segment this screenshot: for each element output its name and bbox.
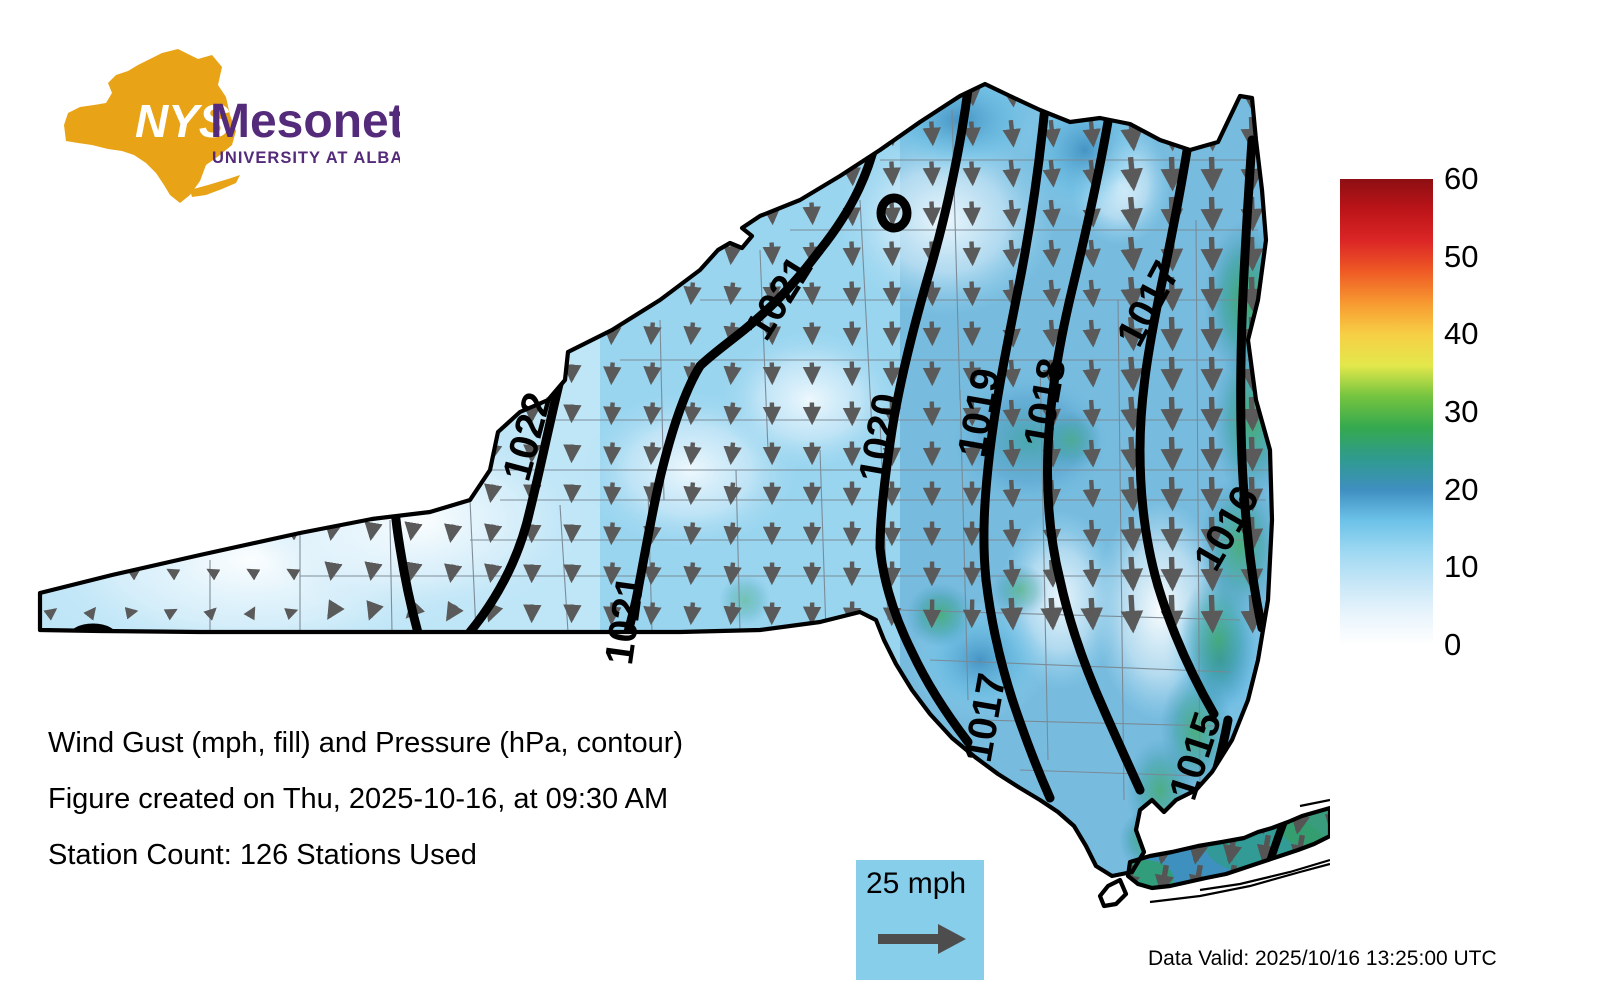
wind-arrow (931, 122, 932, 143)
wind-arrow (132, 248, 133, 256)
wind-arrow (691, 83, 693, 102)
wind-arrow (411, 167, 413, 178)
colorbar (1340, 179, 1433, 645)
wind-arrow (1091, 80, 1094, 104)
wind-arrow (212, 448, 213, 456)
wind-arrow (691, 243, 693, 262)
wind-arrow (852, 322, 853, 343)
wind-arrow (611, 363, 612, 382)
wind-key-label: 25 mph (866, 864, 966, 904)
data-valid-timestamp: Data Valid: 2025/10/16 13:25:00 UTC (1148, 946, 1497, 972)
wind-arrow (209, 530, 216, 534)
wind-arrow (691, 523, 693, 542)
wind-arrow (252, 88, 253, 96)
wind-arrow (771, 83, 772, 102)
figure-caption: Wind Gust (mph, fill) and Pressure (hPa,… (48, 715, 828, 883)
colorbar-tick-50: 50 (1444, 241, 1478, 272)
wind-arrow (292, 208, 293, 216)
wind-arrow (371, 447, 373, 458)
wind-arrow (1011, 360, 1013, 384)
wind-arrow (1212, 437, 1213, 467)
wind-arrow (851, 82, 852, 103)
wind-arrow (132, 408, 133, 416)
wind-arrow (1212, 477, 1213, 507)
wind-arrow (731, 283, 733, 302)
wind-arrow (92, 368, 93, 376)
colorbar-tick-10: 10 (1444, 551, 1478, 582)
wind-arrow (451, 285, 453, 300)
wind-arrow (331, 447, 333, 458)
wind-arrow (132, 88, 133, 96)
wind-arrow (691, 123, 693, 142)
wind-arrow (371, 167, 373, 178)
wind-arrow (52, 208, 53, 216)
wind-arrow (1131, 557, 1133, 587)
wind-arrow (491, 85, 493, 100)
wind-arrow (1172, 437, 1173, 467)
wind-arrow (572, 165, 573, 180)
wind-arrow (491, 285, 493, 300)
wind-arrow (731, 163, 733, 182)
wind-arrow (331, 207, 333, 218)
wind-arrow (1252, 277, 1253, 307)
wind-arrow (1172, 477, 1173, 507)
wind-arrow (292, 248, 293, 256)
wind-arrow (451, 445, 453, 460)
wind-arrow (1212, 237, 1213, 267)
wind-arrow (731, 443, 733, 462)
wind-arrow (1091, 598, 1093, 626)
wind-arrow (252, 208, 253, 216)
wind-arrow (651, 363, 653, 382)
wind-arrow (252, 408, 253, 416)
wind-arrow (212, 328, 213, 336)
wind-arrow (92, 408, 93, 416)
wind-arrow (892, 322, 893, 343)
wind-arrow (169, 530, 176, 534)
wind-arrow (1011, 440, 1013, 464)
wind-arrow (132, 288, 133, 296)
wind-arrow (92, 328, 93, 336)
wind-arrow (411, 407, 413, 418)
wind-arrow (1091, 360, 1093, 384)
wind-arrow (1091, 320, 1093, 344)
wind-arrow (411, 127, 413, 138)
wind-arrow (532, 85, 533, 100)
wind-arrow (972, 202, 973, 223)
wind-arrow (292, 488, 293, 496)
wind-arrow (691, 563, 693, 582)
wind-arrow (92, 88, 93, 96)
wind-arrow (172, 328, 173, 336)
wind-arrow (731, 123, 733, 142)
wind-arrow (611, 163, 612, 182)
colorbar-gradient (1340, 179, 1433, 645)
wind-arrow (52, 168, 53, 176)
wind-arrow (1131, 397, 1133, 427)
wind-arrow (651, 283, 653, 302)
wind-arrow (451, 165, 453, 180)
wind-arrow (1130, 77, 1133, 107)
wind-arrow (572, 245, 573, 260)
wind-arrow (89, 530, 96, 534)
wind-arrow (972, 282, 973, 303)
wind-arrow (212, 288, 213, 296)
caption-line-title: Wind Gust (mph, fill) and Pressure (hPa,… (48, 715, 828, 771)
wind-arrow (411, 207, 413, 218)
wind-arrow (651, 323, 653, 342)
wind-arrow (89, 570, 96, 574)
wind-arrow (1051, 320, 1053, 344)
wind-arrow (772, 163, 773, 182)
wind-arrow (731, 83, 733, 102)
wind-speed-key: 25 mph (856, 860, 984, 980)
wind-arrow (172, 408, 173, 416)
wind-arrow (1091, 520, 1093, 544)
wind-arrow (772, 243, 773, 262)
wind-arrow (651, 163, 653, 182)
wind-arrow (371, 487, 373, 498)
wind-arrow (1091, 240, 1093, 264)
wind-arrow (1131, 237, 1134, 267)
wind-arrow (611, 443, 612, 462)
wind-arrow (292, 288, 293, 296)
caption-line-created: Figure created on Thu, 2025-10-16, at 09… (48, 771, 828, 827)
wind-arrow (572, 325, 573, 340)
wind-arrow (731, 563, 733, 582)
wind-arrow (691, 483, 693, 502)
wind-arrow (611, 523, 612, 542)
colorbar-tick-30: 30 (1444, 396, 1478, 427)
wind-arrow (1011, 80, 1014, 104)
wind-arrow (892, 242, 893, 263)
wind-arrow (971, 162, 972, 183)
wind-arrow (92, 448, 93, 456)
wind-arrow (172, 208, 173, 216)
wind-arrow (331, 247, 333, 258)
wind-arrow (532, 245, 533, 260)
wind-arrow (252, 448, 253, 456)
wind-arrow (212, 208, 213, 216)
wind-arrow (812, 203, 813, 222)
wind-arrow (731, 363, 733, 382)
wind-arrow (691, 163, 693, 182)
wind-arrow (371, 407, 373, 418)
wind-arrow (92, 248, 93, 256)
wind-arrow (451, 405, 453, 420)
wind-arrow (651, 123, 653, 142)
wind-arrow (731, 483, 733, 502)
wind-arrow (611, 283, 612, 302)
wind-arrow (1011, 240, 1013, 264)
wind-arrow (52, 488, 53, 496)
figure-canvas: NYS Mesonet UNIVERSITY AT ALBANY (0, 0, 1600, 1000)
wind-arrow (1212, 197, 1213, 227)
wind-arrow (1091, 560, 1093, 584)
wind-arrow (52, 328, 53, 336)
wind-arrow (1212, 77, 1213, 107)
wind-arrow (1212, 317, 1213, 347)
wind-arrow (1172, 397, 1173, 427)
wind-arrow (491, 165, 493, 180)
wind-arrow (572, 85, 573, 100)
wind-arrow (611, 243, 612, 262)
wind-arrow (411, 287, 413, 298)
wind-arrow (731, 523, 733, 542)
wind-arrow (1230, 805, 1235, 831)
wind-arrow (932, 322, 933, 343)
wind-arrow (371, 367, 373, 378)
wind-arrow (532, 125, 533, 140)
wind-arrow (331, 327, 333, 338)
colorbar-tick-0: 0 (1444, 629, 1461, 660)
wind-arrow (491, 205, 493, 220)
wind-arrow (1211, 595, 1212, 629)
wind-arrow (572, 565, 573, 580)
wind-arrow (92, 488, 93, 496)
wind-arrow (691, 603, 693, 622)
wind-arrow (1131, 157, 1134, 187)
wind-arrow (491, 405, 493, 420)
wind-arrow (572, 405, 573, 420)
wind-arrow (532, 325, 533, 340)
wind-arrow (132, 488, 133, 496)
wind-arrow (132, 208, 133, 216)
wind-arrow (451, 245, 453, 260)
wind-arrow (651, 603, 653, 622)
wind-arrow (852, 282, 853, 303)
wind-arrow (1051, 120, 1053, 144)
wind-arrow (1051, 598, 1053, 626)
wind-arrow (1131, 197, 1134, 227)
wind-arrow (611, 403, 612, 422)
wind-arrow (932, 202, 933, 223)
wind-arrow (132, 328, 133, 336)
wind-arrow (212, 248, 213, 256)
wind-arrow (1091, 120, 1093, 144)
caption-line-station-count: Station Count: 126 Stations Used (48, 827, 828, 883)
wind-arrow (1091, 280, 1093, 304)
wind-arrow (212, 368, 213, 376)
wind-arrow (1131, 595, 1133, 629)
wind-arrow (52, 88, 53, 96)
wind-arrow (731, 203, 733, 222)
wind-arrow (691, 323, 693, 342)
wind-arrow (572, 205, 573, 220)
wind-arrow (572, 525, 573, 540)
wind-arrow (611, 483, 612, 502)
wind-arrow (331, 487, 333, 498)
wind-arrow (132, 368, 133, 376)
wind-arrow (52, 128, 53, 136)
wind-arrow (411, 567, 413, 578)
wind-arrow (892, 282, 893, 303)
wind-arrow (491, 125, 493, 140)
wind-arrow (572, 125, 573, 140)
wind-arrow (1011, 520, 1013, 544)
wind-arrow (651, 443, 653, 462)
wind-arrow (852, 242, 853, 263)
wind-arrow (331, 407, 333, 418)
wind-arrow (1011, 120, 1013, 144)
wind-arrow (331, 167, 333, 178)
wind-arrow (651, 83, 653, 102)
wind-arrow (1051, 240, 1053, 264)
wind-arrow (811, 123, 812, 142)
wind-arrow (132, 448, 133, 456)
wind-arrow (532, 285, 533, 300)
wind-arrow (532, 365, 533, 380)
wind-arrow (1011, 598, 1013, 626)
wind-arrow (292, 408, 293, 416)
wind-arrow (129, 530, 136, 534)
wind-arrow (532, 165, 533, 180)
wind-arrow (451, 525, 453, 540)
wind-arrow (451, 85, 453, 100)
wind-arrow (451, 205, 453, 220)
wind-arrow (532, 525, 533, 540)
wind-arrow (1131, 357, 1133, 387)
wind-arrow (1172, 517, 1173, 547)
wind-arrow (1091, 480, 1093, 504)
wind-arrow (651, 403, 653, 422)
wind-arrow (931, 162, 932, 183)
wind-arrow (1212, 277, 1213, 307)
wind-arrow (1131, 117, 1134, 147)
wind-arrow (331, 87, 333, 98)
wind-arrow (252, 328, 253, 336)
wind-arrow (611, 83, 612, 102)
colorbar-tick-40: 40 (1444, 318, 1478, 349)
wind-arrow (691, 403, 693, 422)
wind-arrow (52, 408, 53, 416)
wind-arrow (172, 88, 173, 96)
wind-arrow (1172, 77, 1173, 107)
wind-arrow (1252, 237, 1253, 267)
wind-arrow (212, 488, 213, 496)
wind-arrow (92, 168, 93, 176)
wind-arrow (52, 368, 53, 376)
wind-arrow (252, 168, 253, 176)
wind-arrow (491, 325, 493, 340)
wind-arrow (252, 128, 253, 136)
wind-arrow (252, 288, 253, 296)
wind-arrow (931, 82, 932, 103)
wind-arrow (851, 122, 852, 143)
wind-arrow (572, 365, 573, 380)
wind-arrow (532, 565, 533, 580)
wind-arrow (1091, 400, 1093, 424)
right-arrow-icon (878, 922, 968, 956)
wind-arrow (172, 288, 173, 296)
wind-arrow (172, 368, 173, 376)
wind-arrow (331, 367, 333, 378)
colorbar-tick-20: 20 (1444, 474, 1478, 505)
wind-arrow (1172, 357, 1173, 387)
wind-arrow (1011, 200, 1013, 224)
wind-arrow (331, 127, 333, 138)
wind-arrow (292, 368, 293, 376)
wind-arrow (371, 247, 373, 258)
wind-arrow (451, 565, 453, 580)
wind-arrow (1212, 357, 1213, 387)
wind-arrow (731, 403, 733, 422)
wind-arrow (52, 248, 53, 256)
wind-arrow (49, 530, 56, 534)
wind-arrow (52, 288, 53, 296)
wind-arrow (411, 87, 413, 98)
wind-arrow (1212, 157, 1213, 187)
wind-arrow (411, 487, 413, 498)
wind-arrow (292, 328, 293, 336)
wind-arrow (491, 245, 493, 260)
wind-arrow (491, 565, 493, 580)
wind-arrow (371, 287, 373, 298)
wind-arrow (451, 365, 453, 380)
wind-arrow (172, 128, 173, 136)
wind-arrow (491, 485, 493, 500)
wind-arrow (1131, 517, 1133, 547)
wind-arrow (651, 563, 653, 582)
wind-arrow (411, 527, 413, 538)
colorbar-tick-labels: 0102030405060 (1444, 160, 1564, 665)
wind-arrow (451, 325, 453, 340)
wind-arrow (252, 248, 253, 256)
wind-arrow (1011, 160, 1013, 184)
wind-arrow (172, 248, 173, 256)
wind-arrow (1051, 280, 1053, 304)
wind-arrow (812, 163, 813, 182)
wind-arrow (331, 567, 333, 578)
wind-arrow (1131, 437, 1133, 467)
wind-arrow (572, 605, 573, 620)
wind-arrow (371, 527, 373, 538)
wind-arrow (971, 122, 972, 143)
wind-arrow (249, 530, 256, 534)
wind-arrow (1196, 805, 1201, 831)
wind-arrow (491, 525, 493, 540)
wind-arrow (212, 88, 213, 96)
wind-arrow (572, 485, 573, 500)
wind-arrow (411, 447, 413, 458)
wind-arrow (52, 448, 53, 456)
colorbar-tick-60: 60 (1444, 163, 1478, 194)
wind-arrow (972, 322, 973, 343)
wind-arrow (292, 88, 293, 96)
wind-arrow (212, 408, 213, 416)
wind-arrow (212, 128, 213, 136)
wind-arrow (1011, 480, 1013, 504)
wind-arrow (691, 283, 693, 302)
wind-arrow (172, 448, 173, 456)
wind-arrow (132, 128, 133, 136)
wind-arrow (1011, 560, 1013, 584)
wind-arrow (1252, 397, 1253, 427)
wind-arrow (1051, 80, 1054, 104)
wind-arrow (371, 207, 373, 218)
wind-arrow (292, 128, 293, 136)
wind-arrow (691, 443, 693, 462)
wind-arrow (371, 127, 373, 138)
wind-arrow (1172, 317, 1173, 347)
wind-arrow (892, 202, 893, 223)
wind-arrow (611, 203, 612, 222)
wind-arrow (532, 205, 533, 220)
wind-arrow (252, 488, 253, 496)
wind-arrow (132, 168, 133, 176)
wind-arrow (371, 87, 373, 98)
wind-arrow (851, 162, 852, 183)
